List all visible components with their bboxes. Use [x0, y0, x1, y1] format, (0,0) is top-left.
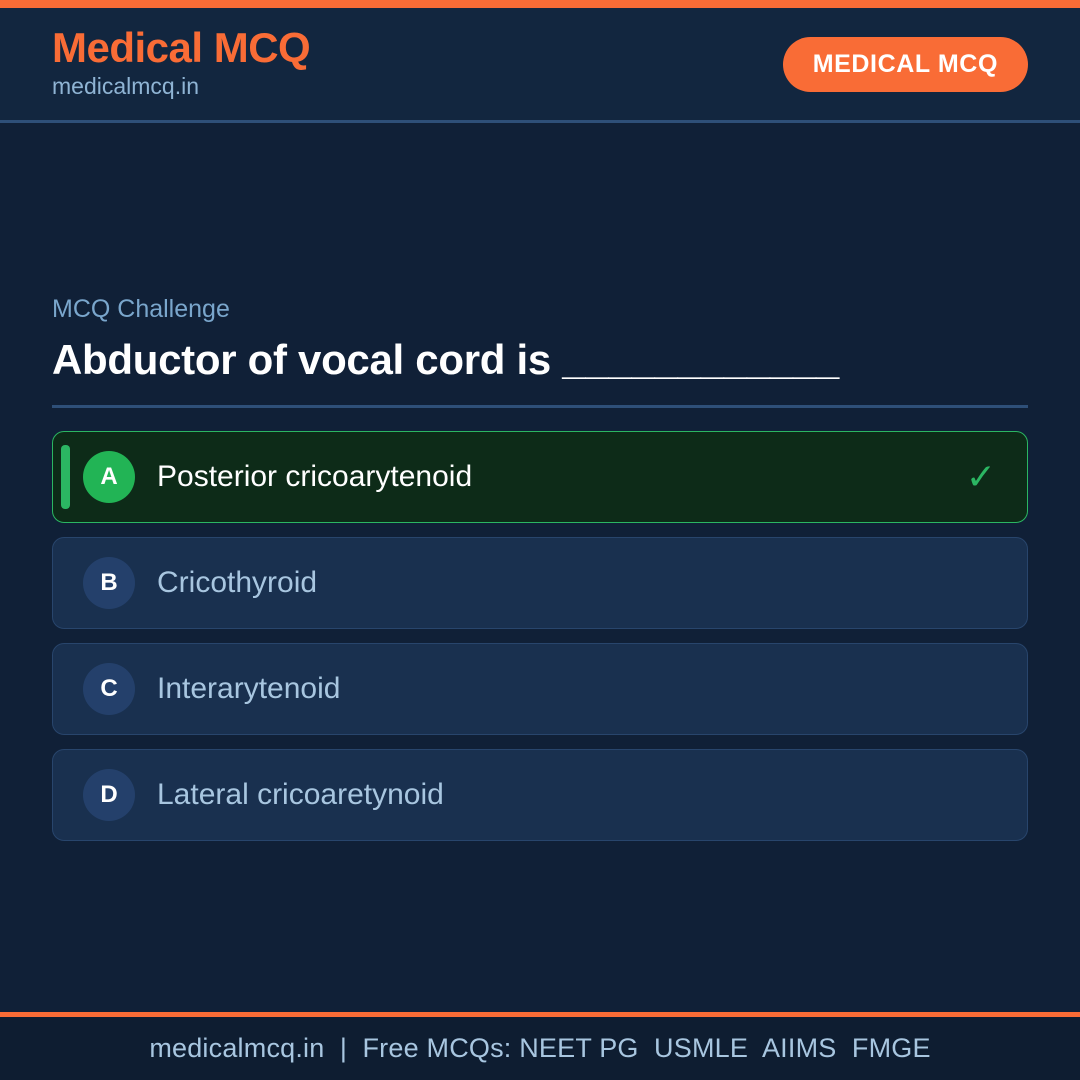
option-letter-badge: C — [83, 663, 135, 715]
mcq-card: Medical MCQ medicalmcq.in MEDICAL MCQ MC… — [0, 0, 1080, 1080]
option-letter-badge: D — [83, 769, 135, 821]
question-block: MCQ Challenge Abductor of vocal cord is … — [52, 294, 1028, 385]
option-letter-badge: A — [83, 451, 135, 503]
option-letter-badge: B — [83, 557, 135, 609]
option-a[interactable]: A Posterior cricoarytenoid ✓ — [52, 431, 1028, 523]
option-c[interactable]: C Interarytenoid — [52, 643, 1028, 735]
main-content: MCQ Challenge Abductor of vocal cord is … — [0, 123, 1080, 1012]
option-label: Interarytenoid — [157, 671, 961, 707]
footer-text: medicalmcq.in | Free MCQs: NEET PG USMLE… — [149, 1033, 930, 1064]
correct-accent-bar — [61, 445, 70, 509]
question-eyebrow: MCQ Challenge — [52, 294, 1028, 324]
option-d[interactable]: D Lateral cricoaretynoid — [52, 749, 1028, 841]
option-b[interactable]: B Cricothyroid — [52, 537, 1028, 629]
question-text: Abductor of vocal cord is ____________ — [52, 334, 922, 385]
check-icon: ✓ — [961, 459, 1001, 495]
page-header: Medical MCQ medicalmcq.in MEDICAL MCQ — [0, 8, 1080, 123]
brand-subtitle: medicalmcq.in — [52, 72, 310, 102]
option-label: Lateral cricoaretynoid — [157, 777, 961, 813]
header-badge: MEDICAL MCQ — [783, 37, 1028, 92]
options-list: A Posterior cricoarytenoid ✓ B Cricothyr… — [52, 431, 1028, 841]
page-footer: medicalmcq.in | Free MCQs: NEET PG USMLE… — [0, 1012, 1080, 1080]
option-label: Cricothyroid — [157, 565, 961, 601]
brand-title: Medical MCQ — [52, 26, 310, 70]
brand-block: Medical MCQ medicalmcq.in — [52, 26, 310, 102]
section-divider — [52, 405, 1028, 408]
top-accent-bar — [0, 0, 1080, 8]
option-label: Posterior cricoarytenoid — [157, 459, 961, 495]
